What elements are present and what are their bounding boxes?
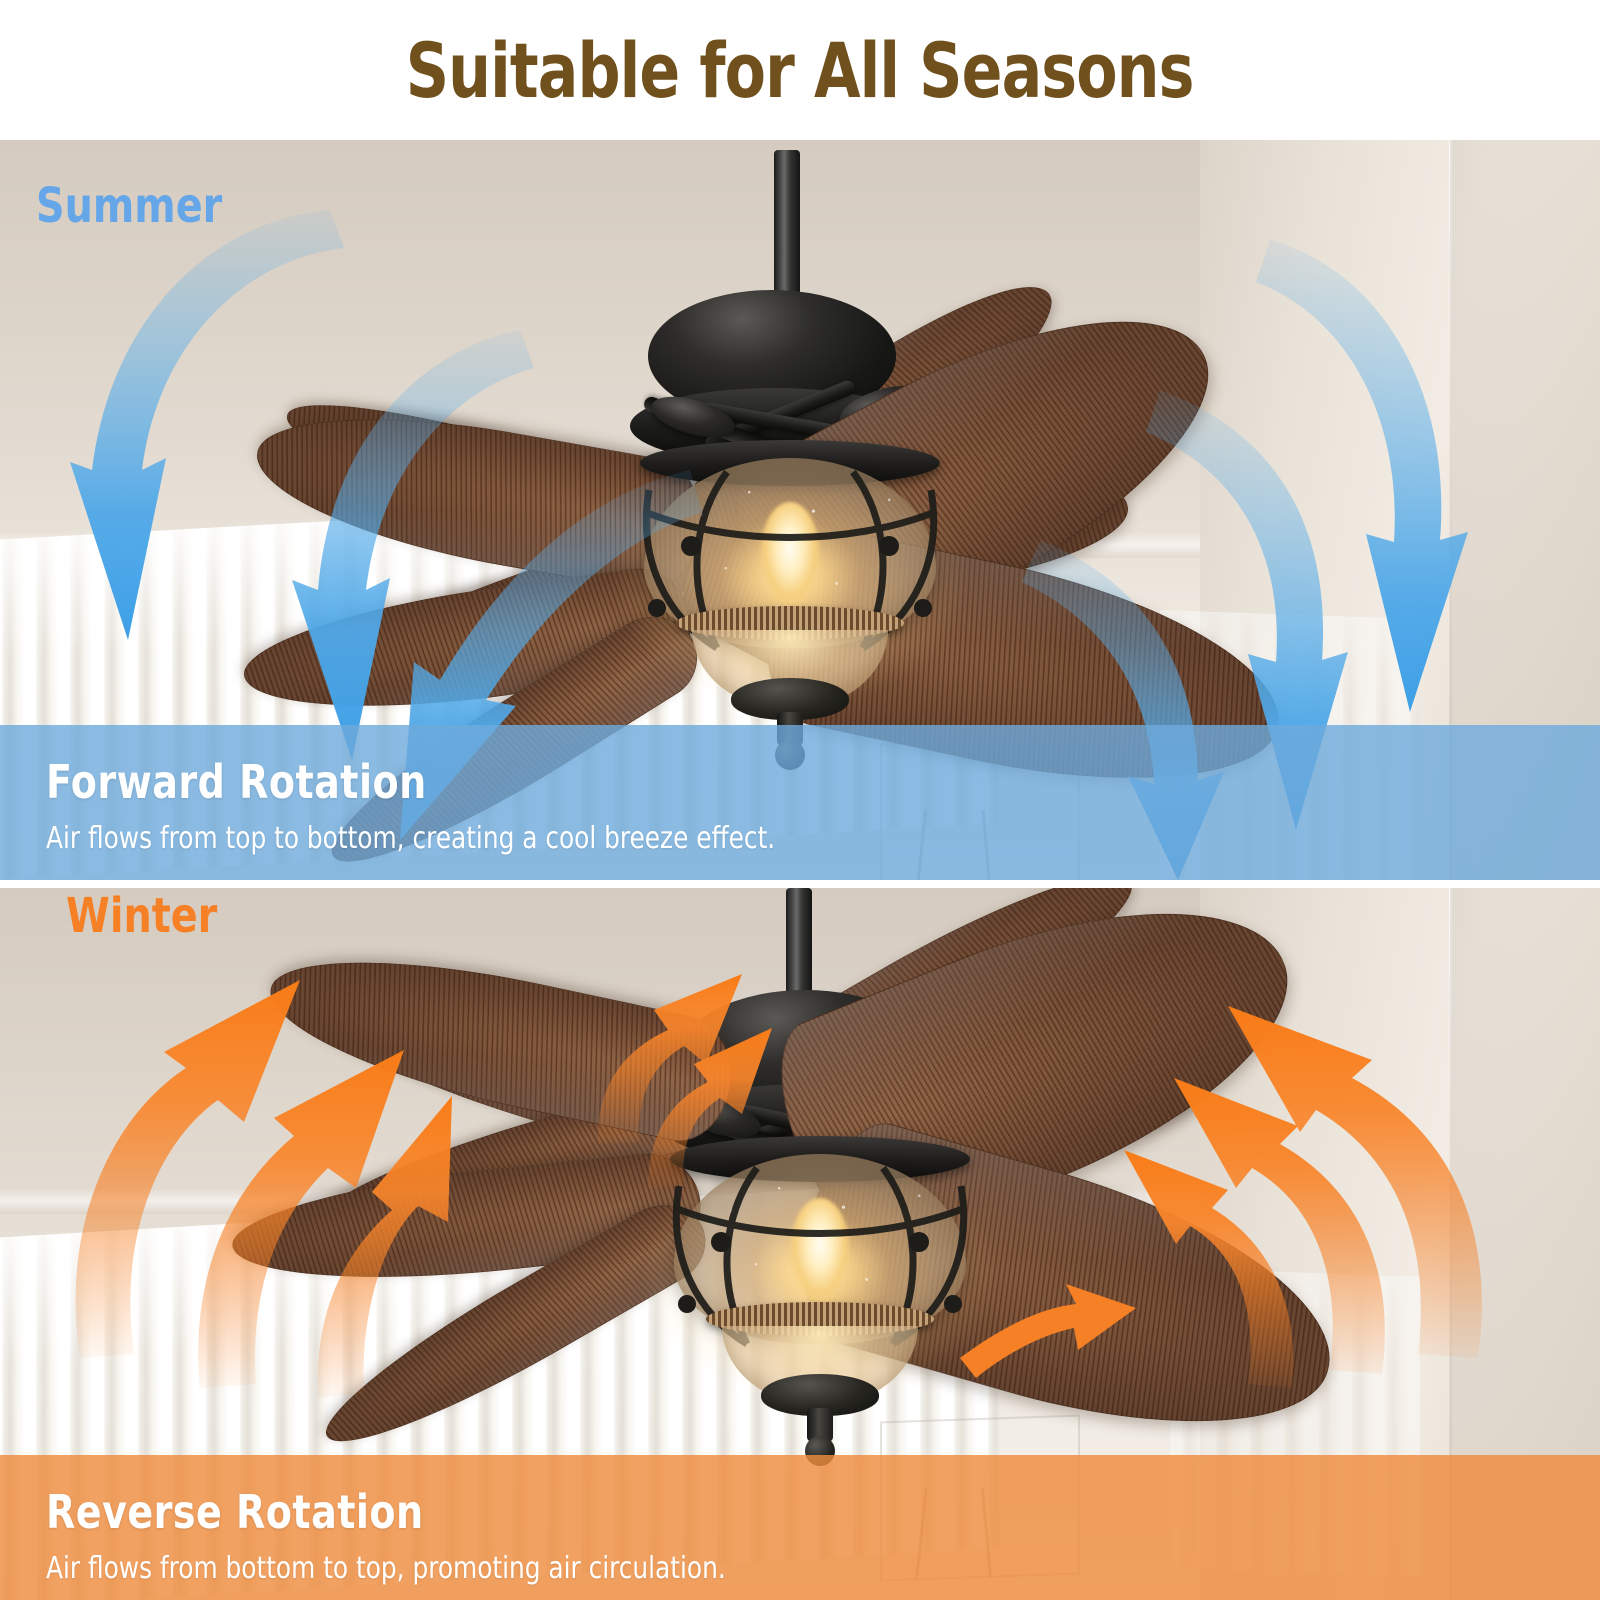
summer-panel: Summer Forward Rotation Air flows from t…	[0, 140, 1600, 880]
season-label-summer: Summer	[36, 178, 222, 234]
light-fixture	[670, 1136, 970, 1436]
fan-blade	[257, 929, 743, 1149]
band-title-forward: Forward Rotation	[46, 755, 1476, 809]
band-subtitle-reverse: Air flows from bottom to top, promoting …	[46, 1551, 1476, 1586]
band-subtitle-forward: Air flows from top to bottom, creating a…	[46, 821, 1476, 856]
info-band-summer: Forward Rotation Air flows from top to b…	[0, 725, 1600, 880]
panel-divider	[0, 880, 1600, 888]
info-band-winter: Reverse Rotation Air flows from bottom t…	[0, 1455, 1600, 1600]
season-label-winter: Winter	[66, 888, 217, 944]
header-bar: Suitable for All Seasons	[0, 0, 1600, 140]
band-title-reverse: Reverse Rotation	[46, 1485, 1476, 1539]
winter-panel: Winter Reverse Rotation Air flows from b…	[0, 888, 1600, 1600]
light-bulb	[790, 1198, 850, 1302]
infographic-page: Suitable for All Seasons	[0, 0, 1600, 1600]
light-bulb	[760, 502, 820, 606]
light-fixture	[640, 440, 940, 740]
page-title: Suitable for All Seasons	[406, 26, 1194, 115]
